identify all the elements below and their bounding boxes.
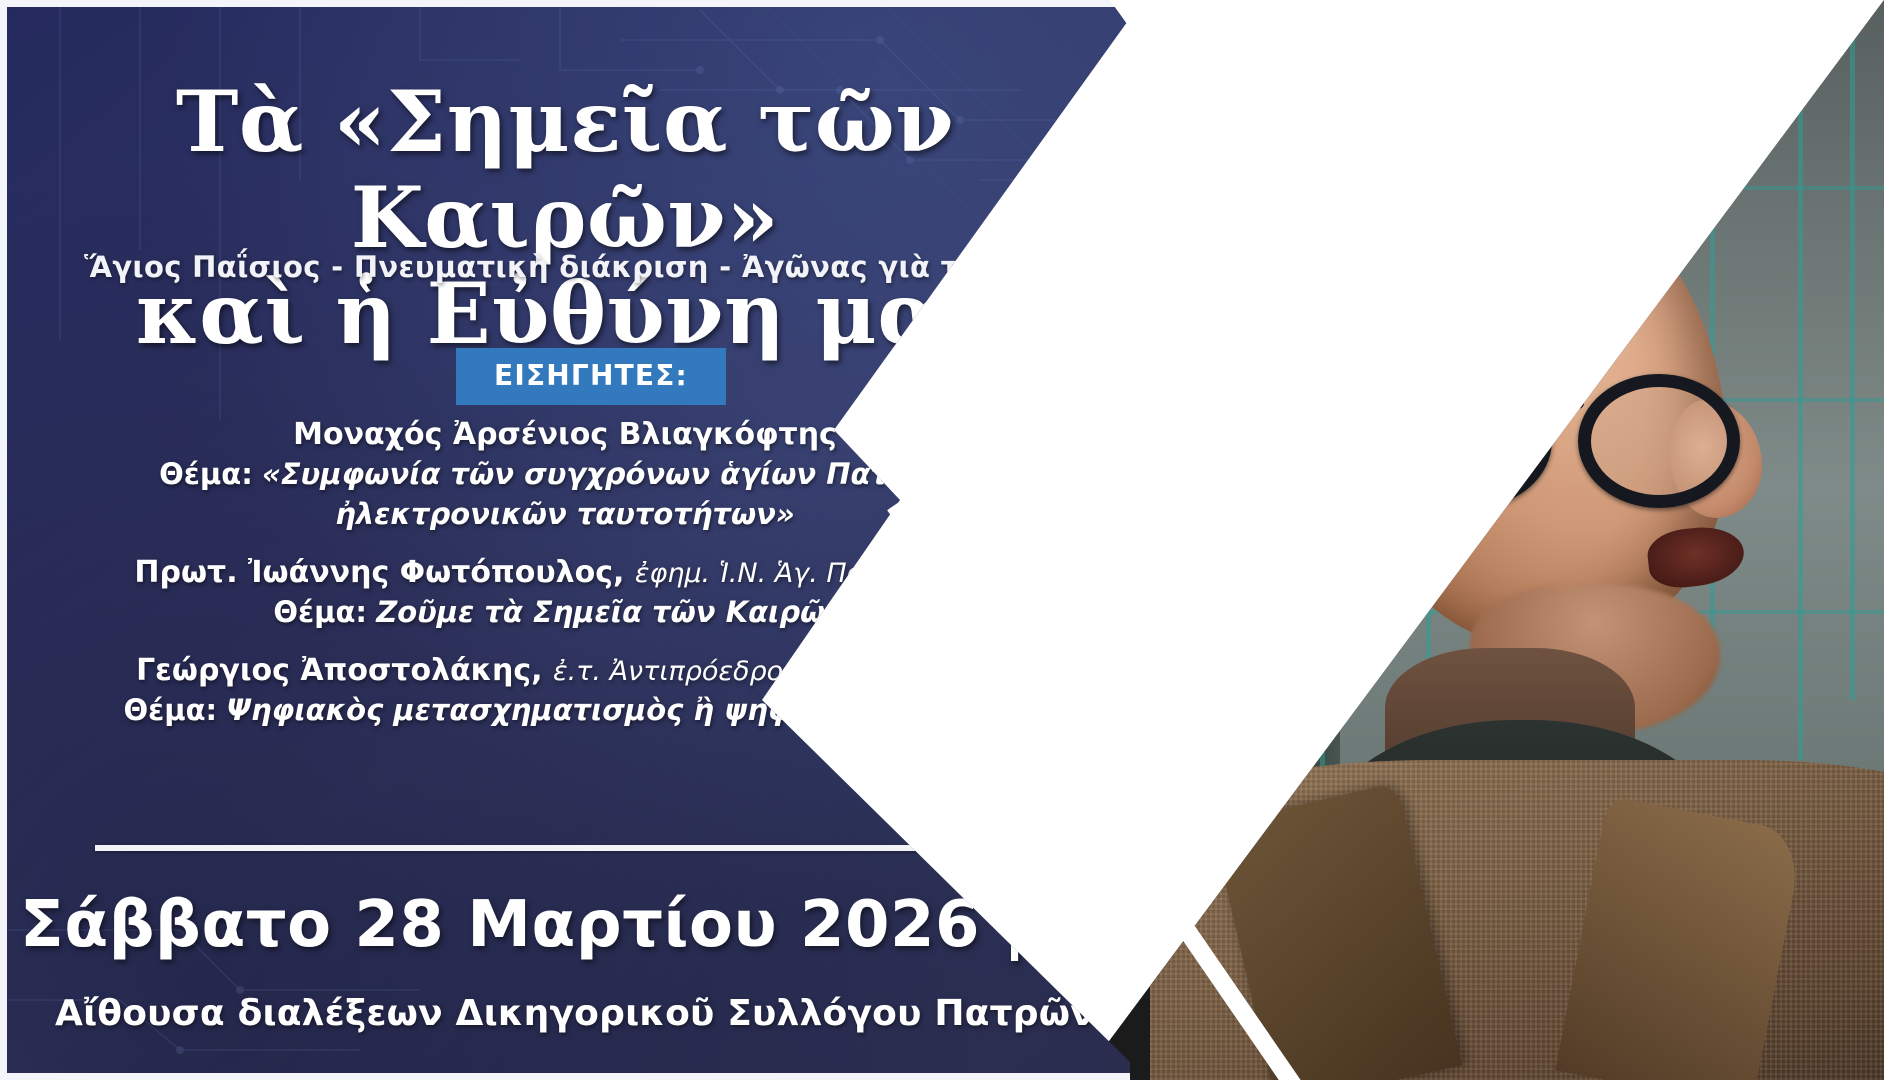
eyeglasses-lens-right (1578, 374, 1740, 508)
poster-subtitle: Ἅγιος Παΐσιος - Πνευματικὴ διάκριση - Ἀγ… (0, 250, 1130, 284)
speaker-name-text: Γεώργιος Ἀποστολάκης, (136, 653, 542, 688)
event-poster: Τὰ «Σημεῖα τῶν Καιρῶν» καὶ ἡ Εὐθύνη μας … (0, 0, 1130, 1080)
backdrop-grid-line (1850, 0, 1855, 700)
speaker-name-text: Μοναχός Ἀρσένιος Βλιαγκόφτης (293, 417, 837, 452)
backdrop-grid-line (1798, 0, 1803, 760)
speaker-topic: Θέμα: «Συμφωνία τῶν συγχρόνων ἁγίων Πατέ… (40, 456, 1090, 494)
eyeglasses-temple (1288, 385, 1399, 410)
speakers-badge: ΕΙΣΗΓΗΤΕΣ: (456, 348, 726, 405)
section-divider (95, 845, 975, 851)
speaker-name: Γεώργιος Ἀποστολάκης, ἐ.τ. Ἀντιπρόεδρος … (40, 652, 1090, 690)
event-datetime: Σάββατο 28 Μαρτίου 2026 | 17:00 - 20:00 (0, 888, 1130, 962)
speaker-item: Μοναχός Ἀρσένιος Βλιαγκόφτης Θέμα: «Συμφ… (40, 416, 1090, 534)
speaker-photo (1150, 0, 1884, 1080)
event-venue: Αἴθουσα διαλέξεων Δικηγορικοῦ Συλλόγου Π… (0, 993, 1130, 1034)
speaker-topic: Θέμα: Ζοῦμε τὰ Σημεῖα τῶν Καιρῶν; (40, 594, 1090, 632)
speaker-role-text: ἐ.τ. Ἀντιπρόεδρος Ἀρείου Πάγου (553, 656, 994, 687)
speaker-topic-text: Ζοῦμε τὰ Σημεῖα τῶν Καιρῶν; (376, 595, 856, 629)
eyeglasses-bridge (1524, 396, 1584, 409)
speaker-topic-text: Ψηφιακὸς μετασχηματισμὸς ἢ ψηφιακὴ φυλακ… (226, 693, 1006, 727)
poster-screenshot: Τὰ «Σημεῖα τῶν Καιρῶν» καὶ ἡ Εὐθύνη μας … (0, 0, 1884, 1080)
speaker-topic: Θέμα: Ψηφιακὸς μετασχηματισμὸς ἢ ψηφιακὴ… (40, 692, 1090, 730)
speaker-topic-text-line-2: ἠλεκτρονικῶν ταυτοτήτων» (335, 497, 795, 531)
subject-ear (1346, 420, 1430, 538)
speaker-name: Μοναχός Ἀρσένιος Βλιαγκόφτης (40, 416, 1090, 454)
eyeglasses-lens-left (1390, 374, 1552, 508)
subject-hair (1300, 148, 1630, 398)
speaker-topic-continued: ἠλεκτρονικῶν ταυτοτήτων» (40, 496, 1090, 534)
poster-title: Τὰ «Σημεῖα τῶν Καιρῶν» καὶ ἡ Εὐθύνη μας (0, 74, 1130, 361)
speaker-topic-label: Θέμα: (124, 693, 218, 727)
poster-title-line-1: Τὰ «Σημεῖα τῶν Καιρῶν» (60, 74, 1070, 266)
speaker-name-text: Πρωτ. Ἰωάννης Φωτόπουλος, (134, 555, 624, 590)
speakers-list: Μοναχός Ἀρσένιος Βλιαγκόφτης Θέμα: «Συμφ… (0, 416, 1130, 730)
backdrop-grid-line (1150, 398, 1884, 402)
speaker-topic-label: Θέμα: (273, 595, 367, 629)
speaker-topic-text: «Συμφωνία τῶν συγχρόνων ἁγίων Πατέρων (262, 457, 971, 491)
speaker-topic-label: Θέμα: (159, 457, 253, 491)
diagonal-separator-upper (1107, 0, 1447, 452)
subject-hair-side (1290, 330, 1440, 630)
speaker-item: Γεώργιος Ἀποστολάκης, ἐ.τ. Ἀντιπρόεδρος … (40, 652, 1090, 730)
